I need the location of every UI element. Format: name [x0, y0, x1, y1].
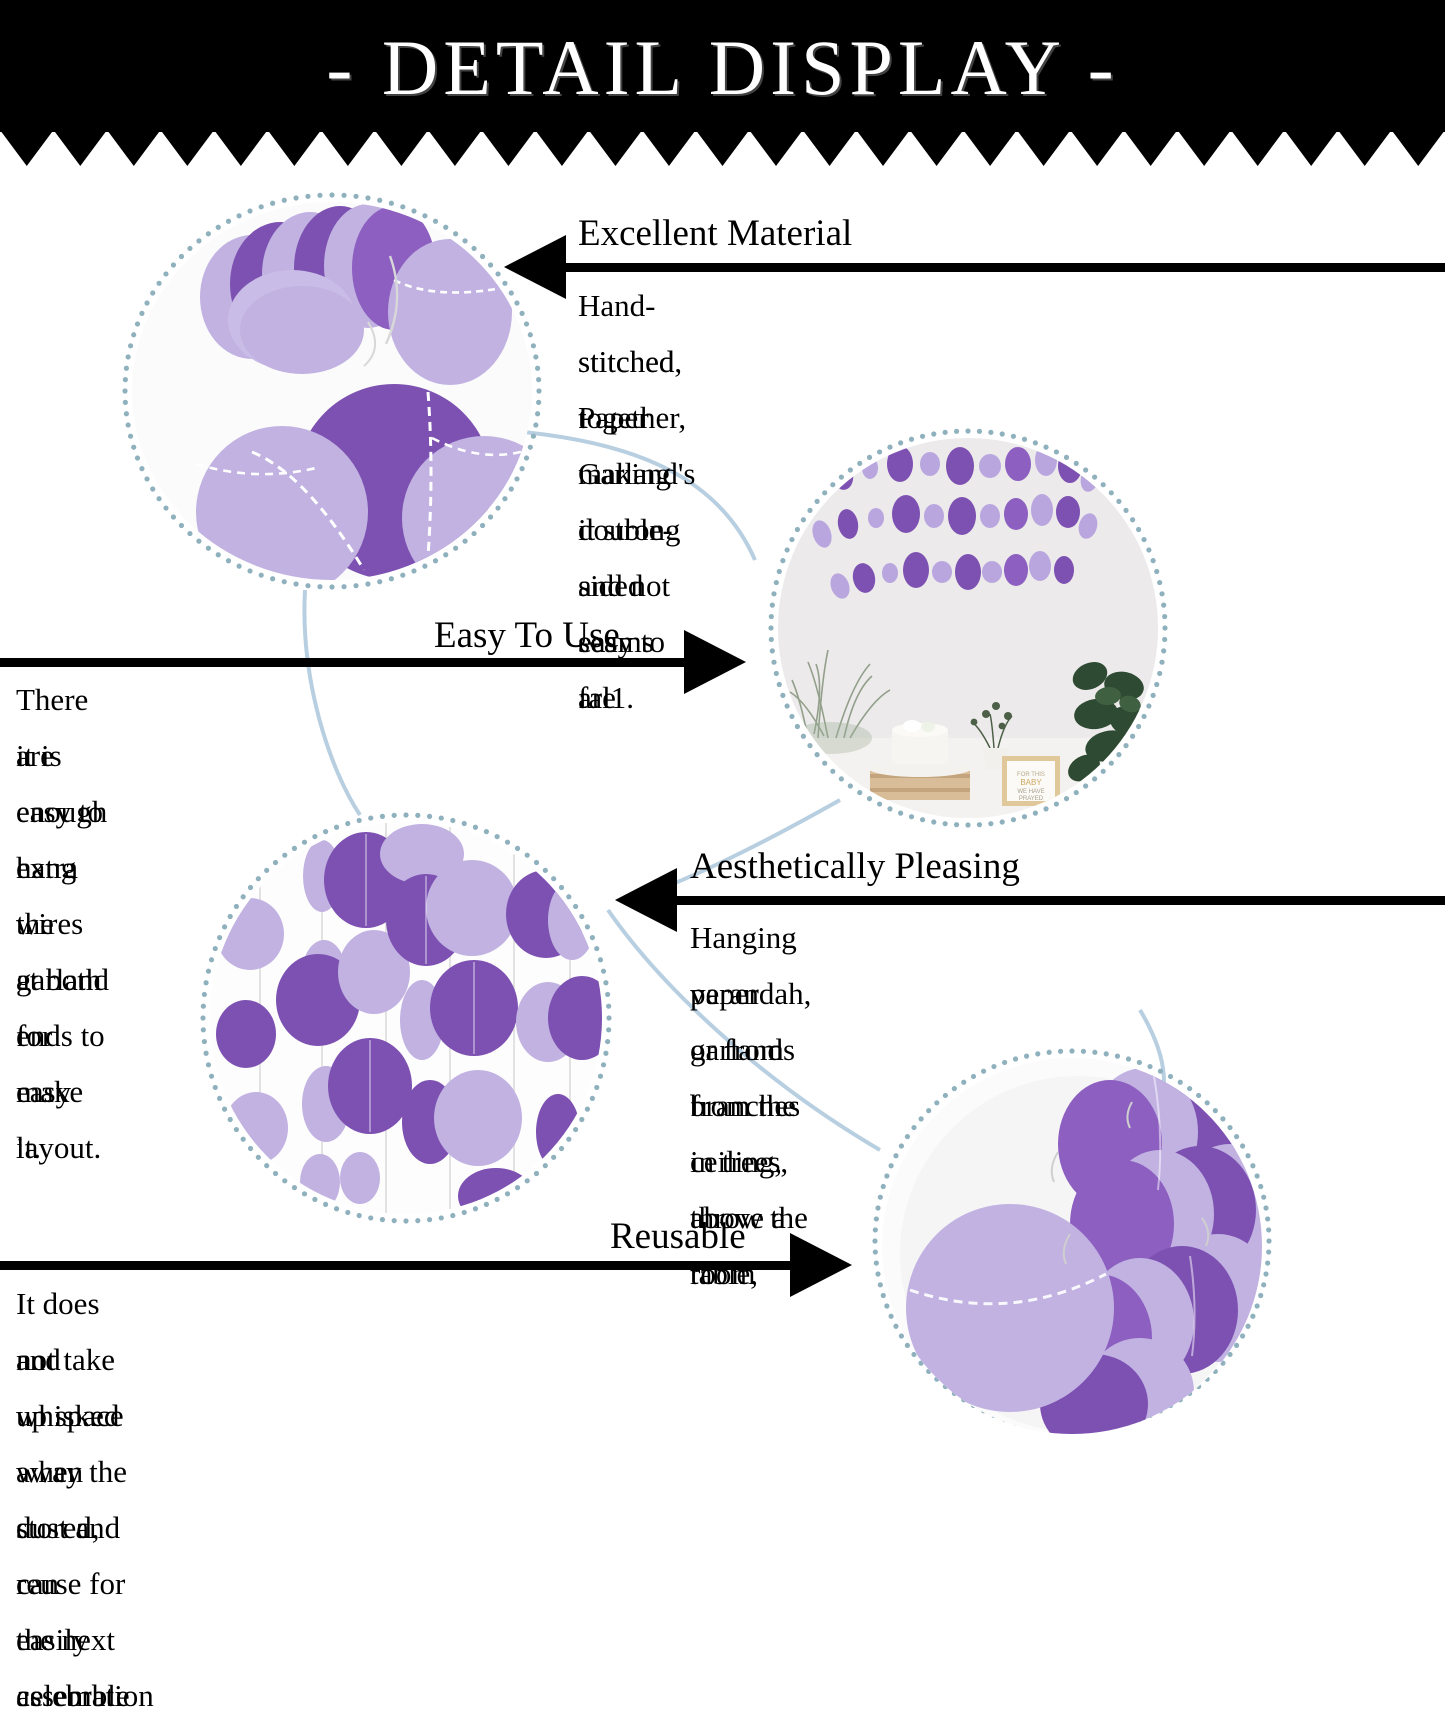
photo-hanging-strands: [210, 822, 602, 1214]
photo-strands-art: [210, 822, 602, 1214]
photo-room-scene: FOR THIS BABY WE HAVE PRAYED: [778, 438, 1158, 818]
photo-stitching-art: [132, 202, 532, 580]
arrow-head-right-icon: [684, 630, 746, 694]
arrow-line: [677, 896, 1445, 905]
callout-body-line-2: and whisked away the dust and reuse for …: [16, 1332, 154, 1724]
photo-fanned-art: [882, 1058, 1262, 1434]
page-title: - DETAIL DISPLAY -: [0, 22, 1445, 114]
photo-room-art: FOR THIS BABY WE HAVE PRAYED: [778, 438, 1158, 818]
arrow-head-left-icon: [615, 868, 677, 932]
callout-title: Excellent Material: [578, 212, 852, 256]
photo-fanned-stack: [882, 1058, 1262, 1434]
arrow-head-right-icon: [790, 1233, 852, 1297]
callout-title: Easy To Use: [434, 614, 620, 658]
callout-title: Reusable: [610, 1215, 746, 1259]
svg-text:PRAYED: PRAYED: [1019, 796, 1044, 802]
header-banner: - DETAIL DISPLAY -: [0, 0, 1445, 164]
arrow-line: [566, 263, 1445, 272]
arrow-line: [0, 658, 684, 667]
arrow-head-left-icon: [504, 235, 566, 299]
zigzag-divider-icon: [0, 130, 1445, 166]
svg-text:BABY: BABY: [1020, 778, 1042, 787]
callout-body-line-2: it is easy to hang the garland for easy …: [16, 728, 109, 1176]
arrow-line: [0, 1261, 790, 1270]
callout-body-line-2: stitched together, making it strong and …: [578, 334, 686, 726]
svg-text:WE HAVE: WE HAVE: [1017, 789, 1044, 795]
callout-title: Aesthetically Pleasing: [690, 845, 1020, 889]
photo-stitching-closeup: [132, 202, 532, 580]
